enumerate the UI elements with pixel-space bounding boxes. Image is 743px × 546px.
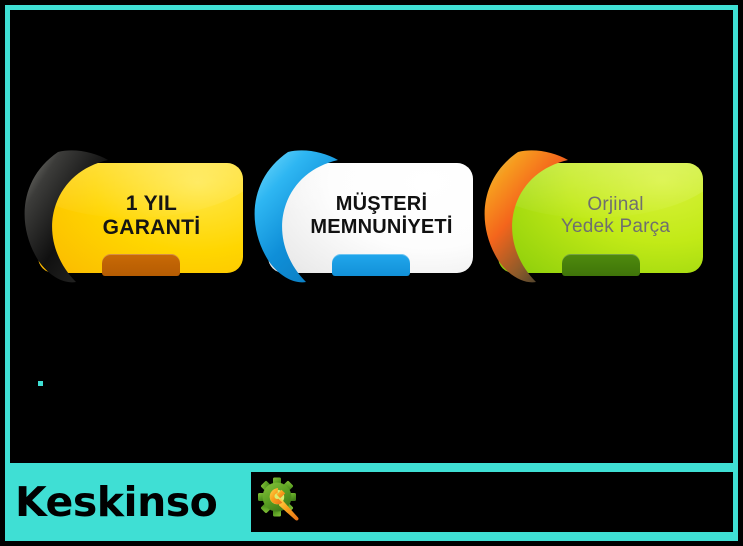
badge-label-line1: 1 YIL <box>126 192 177 216</box>
badge-musteri-memnuniyeti[interactable]: MÜŞTERİ MEMNUNİYETİ <box>268 160 473 288</box>
gear-wrench-icon <box>256 476 306 526</box>
badge-label: 1 YIL GARANTİ <box>38 160 243 273</box>
badge-orjinal-yedek-parca[interactable]: Orjinal Yedek Parça <box>498 160 703 288</box>
badge-row: 1 YIL GARANTİ MÜŞTERİ <box>38 160 703 288</box>
badge-label-line2: GARANTİ <box>103 216 201 240</box>
badge-label: MÜŞTERİ MEMNUNİYETİ <box>268 160 473 273</box>
badge-label: Orjinal Yedek Parça <box>498 160 703 273</box>
badge-label-line2: Yedek Parça <box>561 216 670 237</box>
badge-label-line1: MÜŞTERİ <box>336 193 427 215</box>
bullet-dot-icon <box>38 381 43 386</box>
brand-name: Keskinso <box>15 482 217 523</box>
badge-garanti[interactable]: 1 YIL GARANTİ <box>38 160 243 288</box>
badge-label-line1: Orjinal <box>587 194 643 215</box>
page-root: 1 YIL GARANTİ MÜŞTERİ <box>0 0 743 546</box>
footer-brand-block[interactable]: Keskinso <box>5 463 251 541</box>
badge-label-line2: MEMNUNİYETİ <box>310 216 452 238</box>
